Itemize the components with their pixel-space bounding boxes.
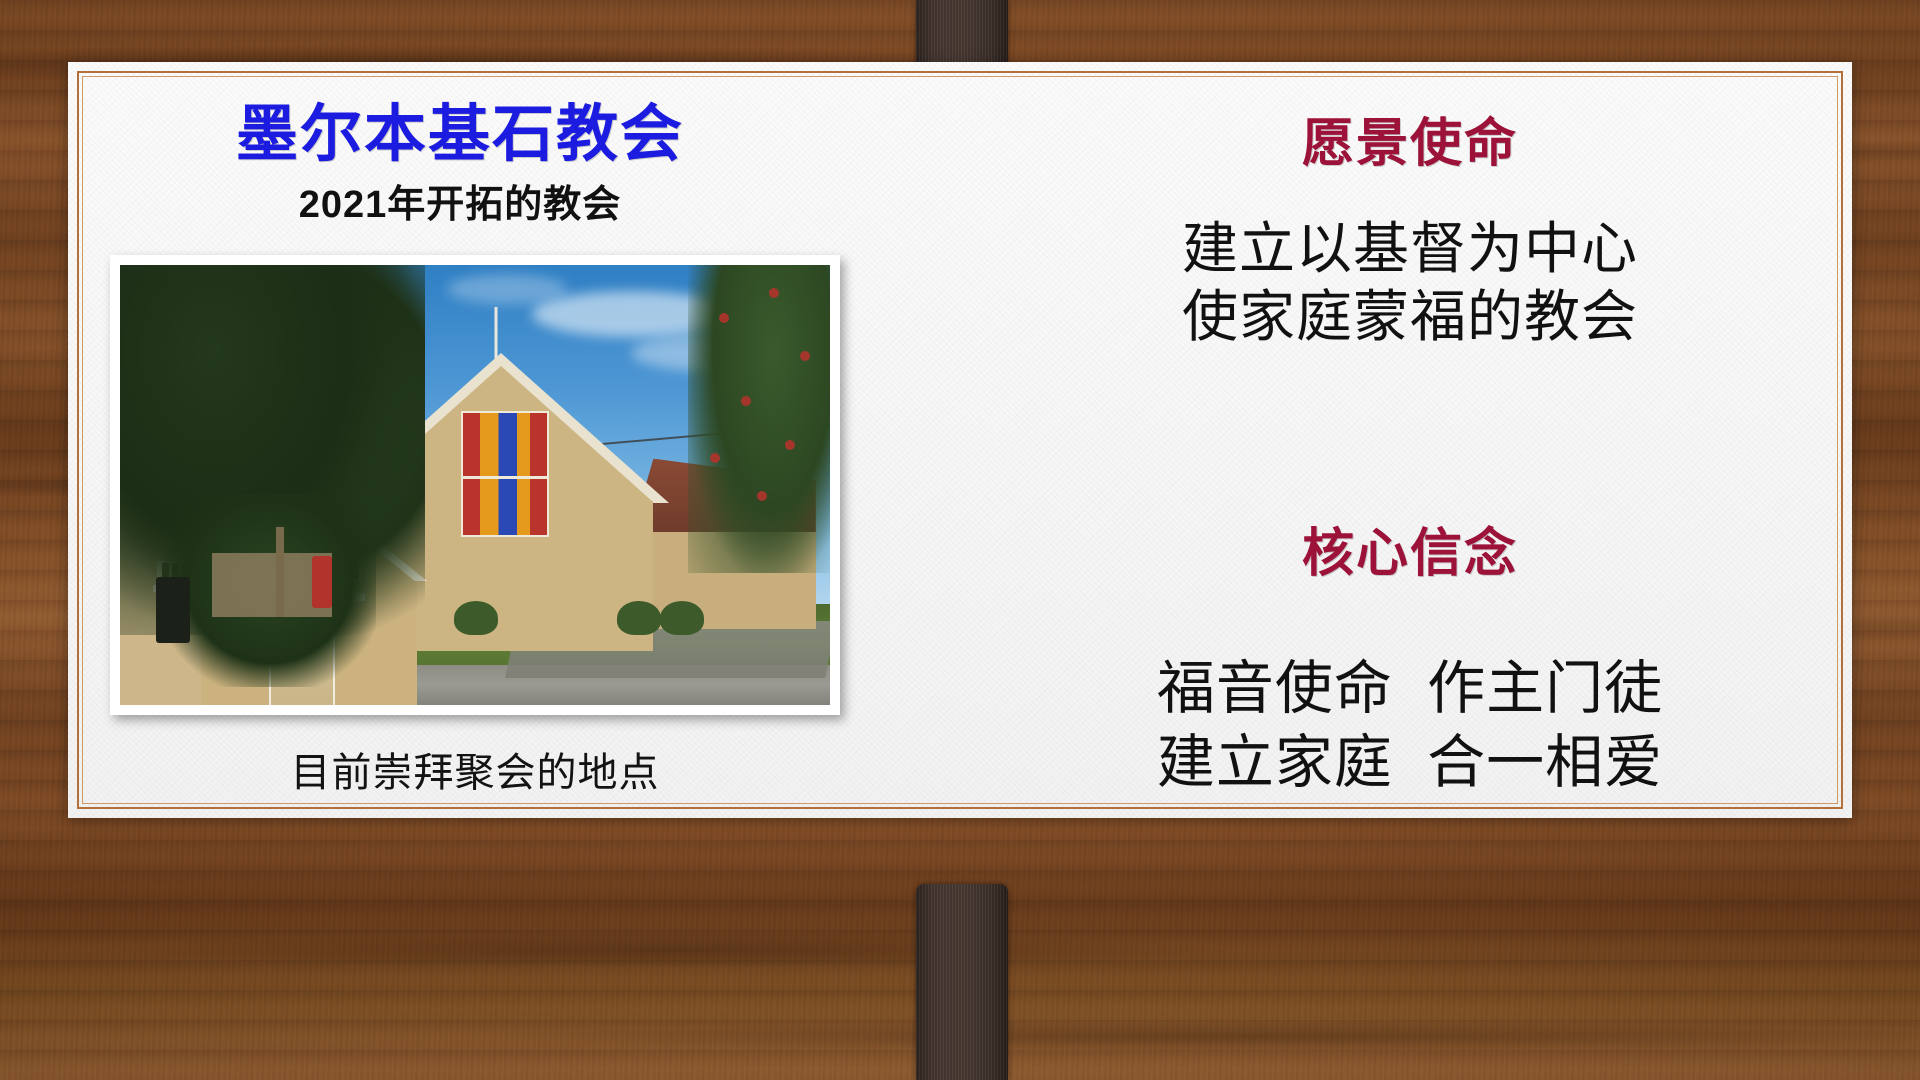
red-blossom — [800, 351, 810, 361]
red-sign — [312, 556, 332, 608]
red-blossom — [785, 440, 795, 450]
core-line-2: 建立家庭 合一相爱 — [960, 726, 1860, 800]
red-blossom — [719, 313, 729, 323]
red-blossom — [710, 453, 720, 463]
hedge-bush — [454, 601, 498, 635]
core-line-1: 福音使命 作主门徒 — [960, 652, 1860, 726]
core-beliefs-heading: 核心信念 — [960, 528, 1860, 580]
church-photo — [120, 265, 830, 705]
slide-content: 墨尔本基石教会 2021年开拓的教会 — [0, 0, 1920, 1080]
red-blossom — [757, 491, 767, 501]
pole — [276, 527, 284, 617]
core-beliefs-body: 福音使命 作主门徒 建立家庭 合一相爱 — [960, 652, 1860, 800]
red-blossom — [769, 288, 779, 298]
vision-line-1: 建立以基督为中心 — [960, 215, 1860, 283]
hedge-bush — [617, 601, 661, 635]
church-subtitle: 2021年开拓的教会 — [0, 186, 920, 224]
window-mullion — [463, 476, 547, 479]
photo-caption: 目前崇拜聚会的地点 — [0, 740, 950, 798]
rubbish-bin — [156, 577, 190, 643]
church-title: 墨尔本基石教会 — [0, 104, 920, 166]
hedge-bush — [660, 601, 704, 635]
cloud — [447, 274, 567, 304]
church-photo-frame — [110, 255, 840, 715]
vision-heading: 愿景使命 — [960, 118, 1860, 170]
vision-line-2: 使家庭蒙福的教会 — [960, 283, 1860, 351]
vision-body: 建立以基督为中心 使家庭蒙福的教会 — [960, 215, 1860, 352]
presentation-slide: 墨尔本基石教会 2021年开拓的教会 — [0, 0, 1920, 1080]
foliage-tree-right — [688, 265, 830, 573]
red-blossom — [741, 396, 751, 406]
